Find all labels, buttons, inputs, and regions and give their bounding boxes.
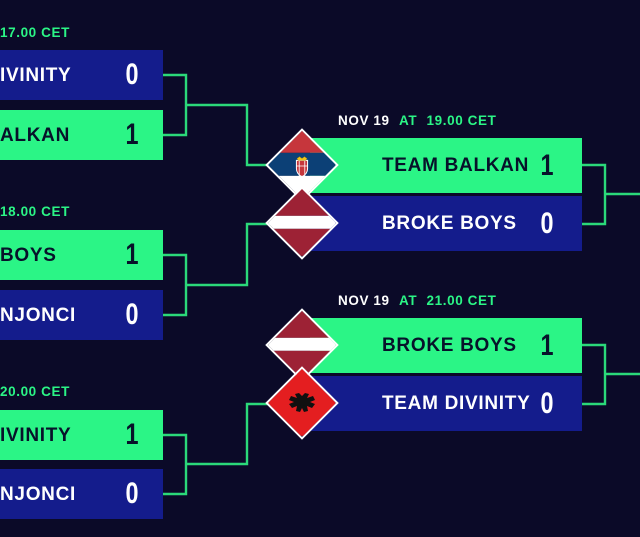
albania-eagle-icon <box>276 377 328 429</box>
team-score: 1 <box>534 151 561 181</box>
match-header-sf1: NOV 19 AT 19.00 CET <box>338 113 496 128</box>
match-header-qf2: 18.00 CET <box>0 204 70 219</box>
bracket-team-row[interactable]: TEAM DIVINITY 0 <box>310 376 582 431</box>
team-score: 1 <box>534 331 561 361</box>
team-name: NJONCI <box>0 306 115 325</box>
bracket-team-row[interactable]: BOYS 1 <box>0 230 163 280</box>
match-time-qf1: 17.00 CET <box>0 25 70 40</box>
team-score: 0 <box>119 60 146 90</box>
bracket-stage: 17.00 CET 18.00 CET 20.00 CET IVINITY 0 … <box>0 0 640 537</box>
team-name: BROKE BOYS <box>382 214 530 233</box>
match-time-sf2: 21.00 CET <box>427 293 497 308</box>
team-name: BOYS <box>0 246 115 265</box>
team-name: BROKE BOYS <box>382 336 530 355</box>
bracket-team-row[interactable]: NJONCI 0 <box>0 469 163 519</box>
team-name: IVINITY <box>0 66 115 85</box>
team-name: IVINITY <box>0 426 115 445</box>
bracket-team-row[interactable]: IVINITY 1 <box>0 410 163 460</box>
team-score: 1 <box>119 420 146 450</box>
bracket-team-row[interactable]: IVINITY 0 <box>0 50 163 100</box>
match-time-sf1: 19.00 CET <box>427 113 497 128</box>
bracket-team-row[interactable]: BROKE BOYS 1 <box>310 318 582 373</box>
team-score: 0 <box>119 479 146 509</box>
team-score: 0 <box>534 389 561 419</box>
team-name: ALKAN <box>0 126 115 145</box>
team-name: TEAM BALKAN <box>382 156 530 175</box>
match-header-qf3: 20.00 CET <box>0 384 70 399</box>
team-score: 1 <box>119 120 146 150</box>
match-date-sf2: NOV 19 <box>338 293 390 308</box>
team-score: 0 <box>119 300 146 330</box>
bracket-team-row[interactable]: NJONCI 0 <box>0 290 163 340</box>
bracket-team-row[interactable]: ALKAN 1 <box>0 110 163 160</box>
albania-flag-icon <box>276 377 328 429</box>
match-time-qf2: 18.00 CET <box>0 204 70 219</box>
team-score: 0 <box>534 209 561 239</box>
team-score: 1 <box>119 240 146 270</box>
team-name: NJONCI <box>0 485 115 504</box>
team-name: TEAM DIVINITY <box>382 394 530 413</box>
latvia-flag-icon <box>276 319 328 371</box>
serbia-coat-of-arms-icon <box>276 139 328 191</box>
match-date-sf1: NOV 19 <box>338 113 390 128</box>
match-header-sf2: NOV 19 AT 21.00 CET <box>338 293 496 308</box>
serbia-flag-icon <box>276 139 328 191</box>
match-time-qf3: 20.00 CET <box>0 384 70 399</box>
match-header-qf1: 17.00 CET <box>0 25 70 40</box>
match-prefix-sf1: AT <box>399 113 417 128</box>
bracket-team-row[interactable]: BROKE BOYS 0 <box>310 196 582 251</box>
match-prefix-sf2: AT <box>399 293 417 308</box>
bracket-team-row[interactable]: TEAM BALKAN 1 <box>310 138 582 193</box>
latvia-flag-icon <box>276 197 328 249</box>
